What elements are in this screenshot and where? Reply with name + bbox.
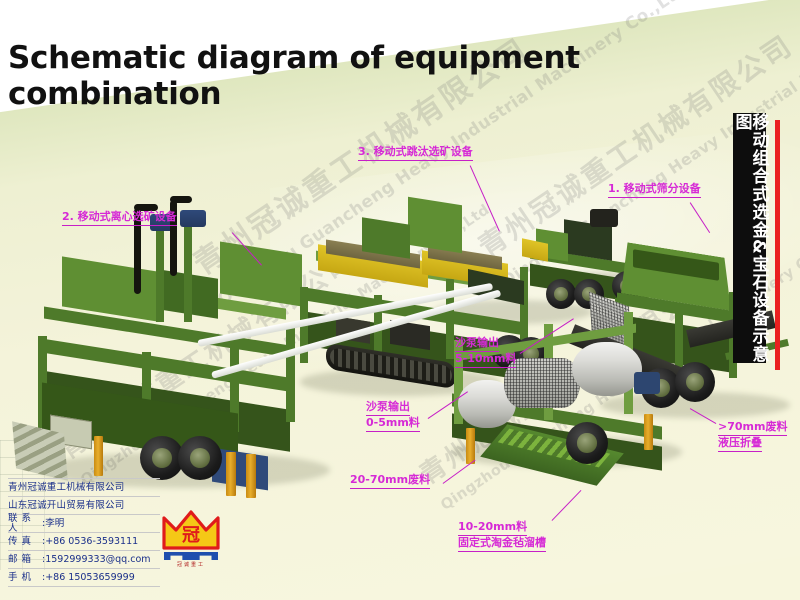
diagram-canvas: 青州冠诚重工机械有限公司 Qingzhou Guancheng Heavy In…: [0, 0, 800, 600]
wheel: [546, 279, 576, 309]
svg-text:冠: 冠: [182, 525, 200, 546]
vertical-banner-text: 移动组合式选金&宝石设备示意图: [733, 113, 767, 363]
contact-value: :1592999333@qq.com: [42, 555, 160, 565]
drum-drive-motor: [634, 372, 660, 394]
callout-over-70mm-waste: >70mm废料 液压折叠: [718, 420, 787, 452]
callout-sand-pump-0-5mm: 沙泵输出 0-5mm料: [366, 400, 420, 432]
hydraulic-outrigger: [94, 436, 103, 476]
contact-label: 邮箱: [8, 555, 42, 565]
contact-row-person: 联系人 :李明: [8, 515, 160, 533]
pump-motor: [180, 210, 206, 227]
contact-label: 传真: [8, 537, 42, 547]
callout-3-mobile-jig: 3. 移动式跳汰选矿设备: [358, 145, 473, 161]
hydraulic-outrigger: [226, 452, 236, 496]
contact-row-mobile: 手机 :+86 15053659999: [8, 569, 160, 587]
company-logo: 冠 冠诚重工: [160, 508, 222, 570]
contact-label: 手机: [8, 573, 42, 583]
jig-drive-housing: [408, 197, 462, 254]
motor-assembly: [590, 209, 618, 227]
wheel: [178, 436, 222, 480]
contact-info-card: 青州冠诚重工机械有限公司 山东冠诚开山贸易有限公司 联系人 :李明 传真 :+8…: [8, 478, 160, 587]
contact-row-fax: 传真 :+86 0536-3593111: [8, 533, 160, 551]
callout-sand-pump-5-10mm: 沙泵输出 5-10mm料: [455, 336, 516, 368]
company-name-2: 山东冠诚开山贸易有限公司: [8, 501, 124, 511]
contact-row-company-1: 青州冠诚重工机械有限公司: [8, 478, 160, 497]
callout-1-mobile-screening: 1. 移动式筛分设备: [608, 182, 701, 198]
hydraulic-outrigger: [644, 414, 653, 450]
callout-2-mobile-centrifugal: 2. 移动式离心选矿设备: [62, 210, 177, 226]
page-title: Schematic diagram of equipment combinati…: [8, 40, 800, 112]
contact-value: :+86 15053659999: [42, 573, 160, 583]
hydraulic-outrigger: [466, 428, 475, 464]
logo-text: 冠诚重工: [164, 561, 218, 568]
logo-base: [164, 552, 218, 560]
hydraulic-outrigger: [246, 454, 256, 498]
callout-10-20mm-sluice: 10-20mm料 固定式淘金毡溜槽: [458, 520, 546, 552]
vertical-banner: 移动组合式选金&宝石设备示意图: [733, 113, 766, 363]
suction-pipe: [170, 196, 192, 203]
contact-value: :李明: [42, 519, 160, 529]
red-accent-bar: [775, 120, 780, 370]
equipment-housing: [220, 242, 302, 307]
callout-20-70mm-waste: 20-70mm废料: [350, 473, 430, 489]
company-name-1: 青州冠诚重工机械有限公司: [8, 483, 124, 493]
trommel-drum: [572, 342, 642, 396]
crown-icon: 冠: [160, 508, 222, 552]
contact-value: :+86 0536-3593111: [42, 537, 160, 547]
contact-row-email: 邮箱 :1592999333@qq.com: [8, 551, 160, 569]
wheel: [566, 422, 608, 464]
contact-label: 联系人: [8, 514, 42, 533]
